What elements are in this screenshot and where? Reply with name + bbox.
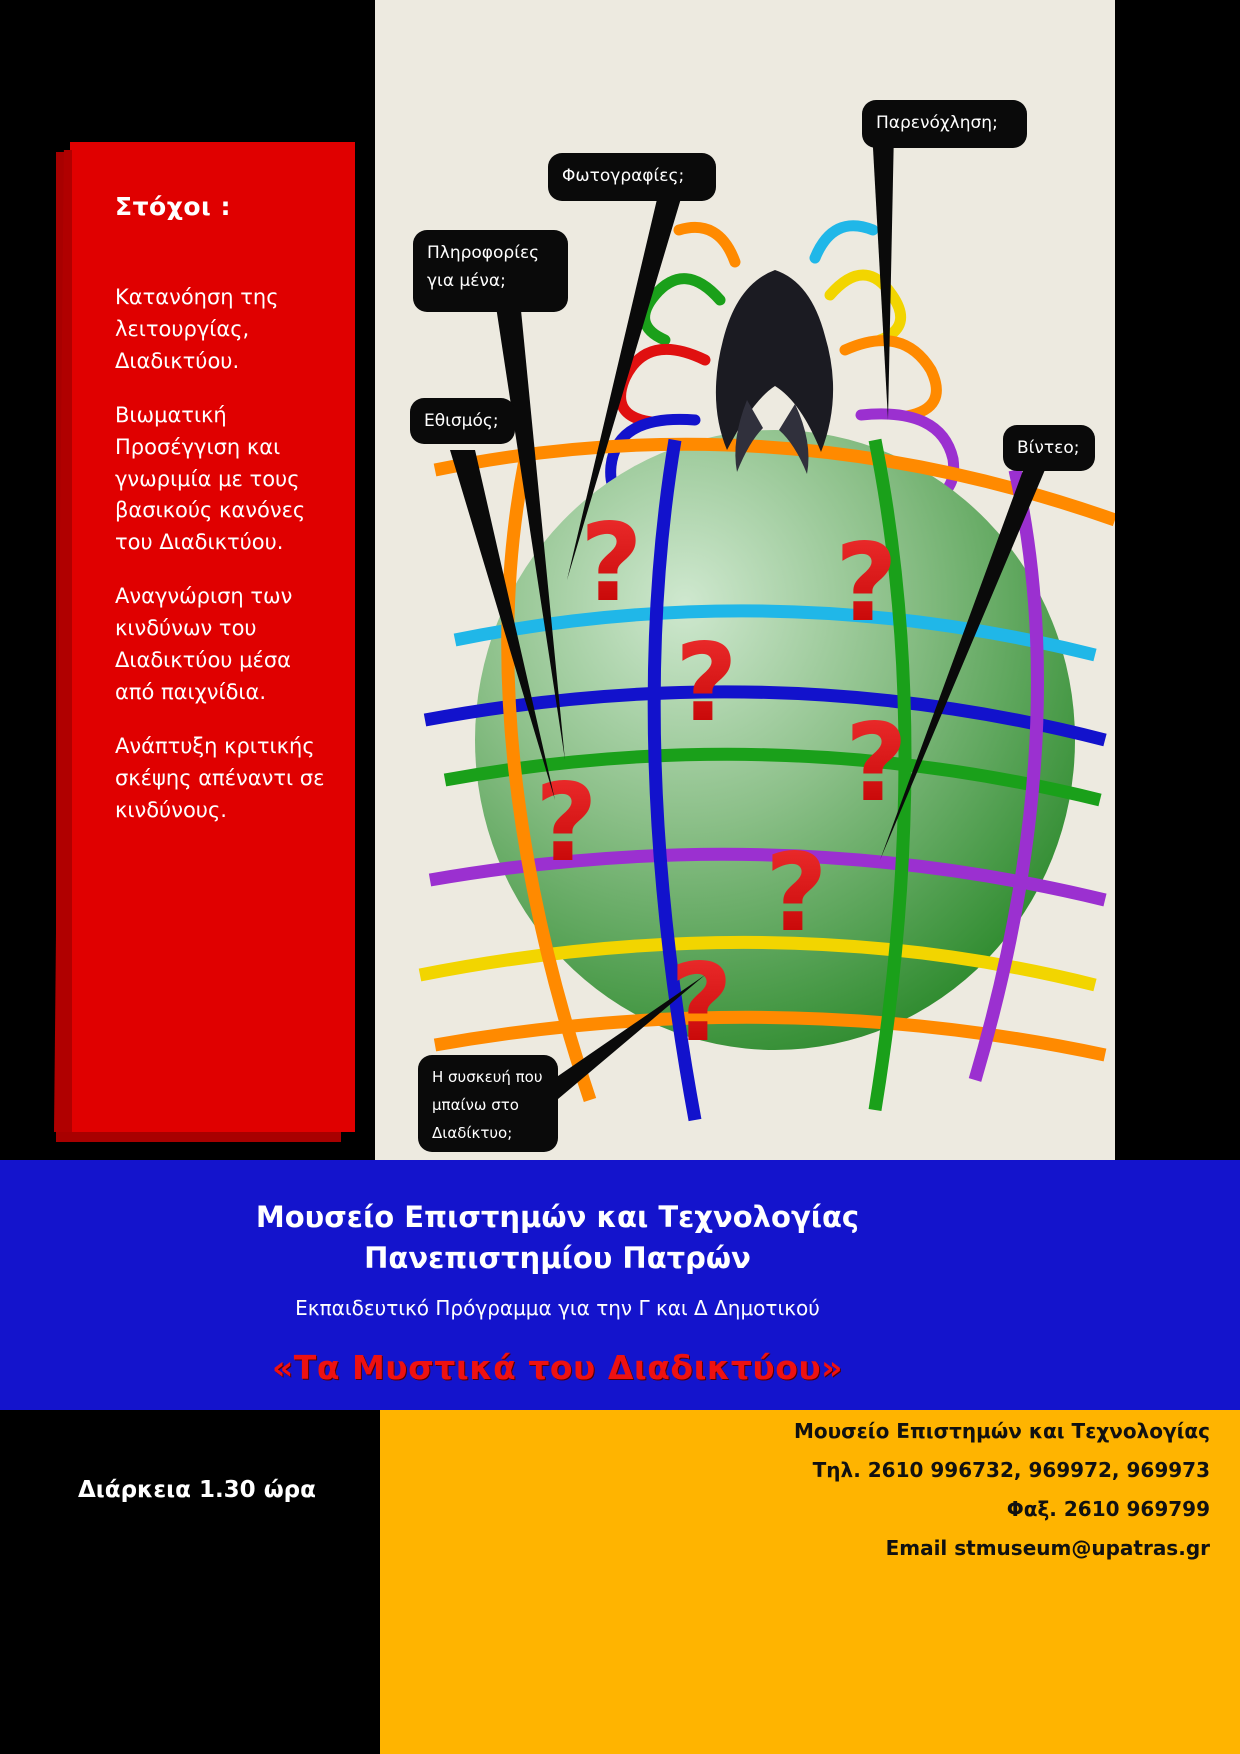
contact-telephone: Τηλ. 2610 996732, 969972, 969973 [380, 1451, 1210, 1490]
right-black-strip [1115, 0, 1240, 1160]
program-title: «Τα Μυστικά του Διαδικτύου» [0, 1348, 1115, 1387]
museum-name-line1: Μουσείο Επιστημών και Τεχνολογίας [0, 1200, 1115, 1234]
objectives-heading: Στόχοι : [115, 192, 231, 221]
objectives-list: Κατανόηση της λειτουργίας, Διαδικτύου. Β… [115, 282, 330, 849]
bubble-fotografies[interactable]: Φωτογραφίες; [548, 153, 716, 201]
illustration-panel: ? ? ? ? ? ? ? [375, 0, 1115, 1160]
svg-text:?: ? [765, 831, 828, 956]
bubble-parenoxlisi[interactable]: Παρενόχληση; [862, 100, 1027, 148]
contact-fax: Φαξ. 2610 969799 [380, 1490, 1210, 1529]
svg-text:?: ? [835, 521, 898, 646]
svg-text:?: ? [675, 621, 738, 746]
bubble-siskevi[interactable]: Η συσκευή που μπαίνω στο Διαδίκτυο; [418, 1055, 558, 1152]
svg-text:?: ? [580, 501, 643, 626]
bubble-plirofories[interactable]: Πληροφορίες για μένα; [413, 230, 568, 312]
contact-email[interactable]: Email stmuseum@upatras.gr [380, 1529, 1210, 1568]
svg-text:?: ? [845, 701, 908, 826]
bottom-black-area [0, 1410, 380, 1754]
objective-item: Ανάπτυξη κριτικής σκέψης απέναντι σε κιν… [115, 731, 330, 827]
objectives-panel: Στόχοι : Κατανόηση της λειτουργίας, Διαδ… [70, 142, 355, 1132]
museum-name-line2: Πανεπιστημίου Πατρών [0, 1241, 1115, 1275]
svg-text:?: ? [535, 761, 598, 886]
poster-root: ? ? ? ? ? ? ? Παρενό [0, 0, 1240, 1754]
program-subtitle: Εκπαιδευτικό Πρόγραμμα για την Γ και Δ Δ… [0, 1296, 1115, 1320]
globe-illustration: ? ? ? ? ? ? ? [375, 0, 1115, 1160]
objective-item: Κατανόηση της λειτουργίας, Διαδικτύου. [115, 282, 330, 378]
svg-text:?: ? [670, 941, 733, 1066]
bubble-vinteo[interactable]: Βίντεο; [1003, 425, 1095, 471]
bubble-ethismos[interactable]: Εθισμός; [410, 398, 515, 444]
contact-museum-name: Μουσείο Επιστημών και Τεχνολογίας [380, 1412, 1210, 1451]
objective-item: Βιωματική Προσέγγιση και γνωριμία με του… [115, 400, 330, 560]
objective-item: Αναγνώριση των κινδύνων του Διαδικτύου μ… [115, 581, 330, 709]
duration-label: Διάρκεια 1.30 ώρα [78, 1477, 316, 1503]
contact-block: Μουσείο Επιστημών και Τεχνολογίας Τηλ. 2… [380, 1412, 1210, 1568]
